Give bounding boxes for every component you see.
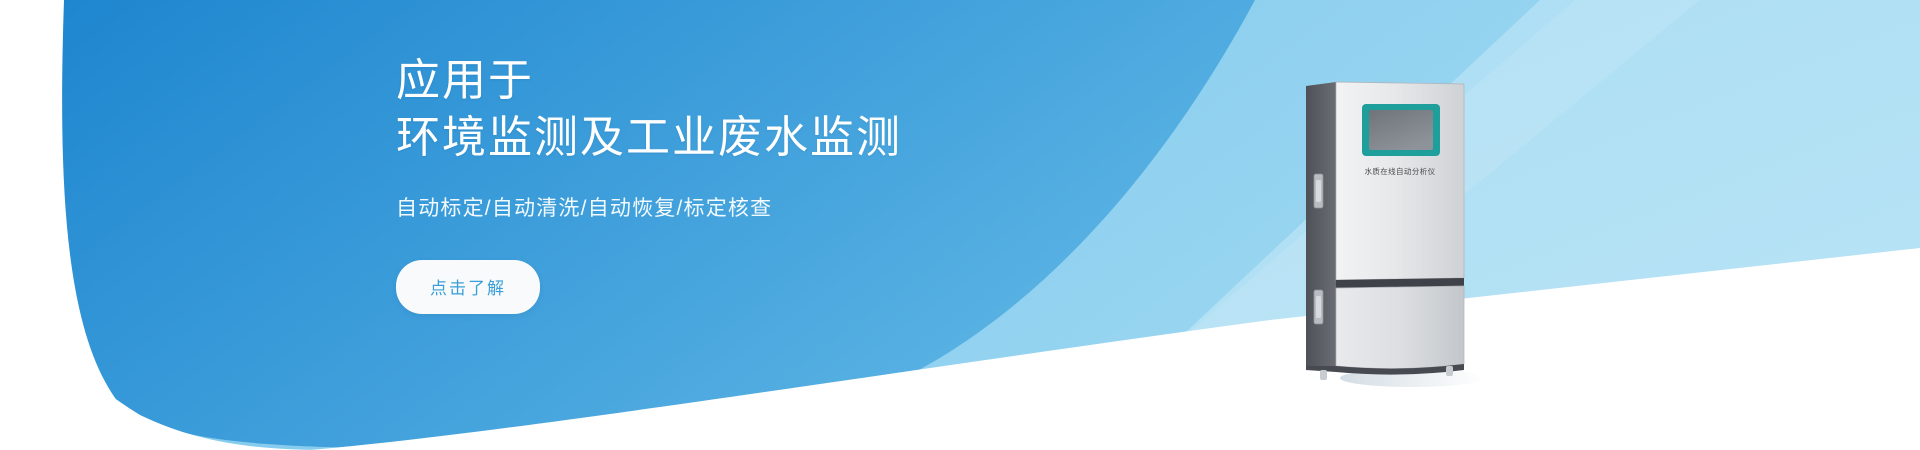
cabinet-lower-door bbox=[1336, 286, 1464, 369]
page-title: 应用于 环境监测及工业废水监测 bbox=[396, 52, 1156, 166]
headline-line-1: 应用于 bbox=[396, 56, 534, 105]
analyzer-cabinet-icon bbox=[1300, 78, 1480, 388]
display-screen bbox=[1369, 110, 1433, 150]
learn-more-button[interactable]: 点击了解 bbox=[396, 260, 540, 314]
cabinet-side-panel bbox=[1306, 82, 1336, 370]
product-image: 水质在线自动分析仪 bbox=[1300, 78, 1480, 388]
headline-line-2: 环境监测及工业废水监测 bbox=[396, 109, 1156, 166]
hero-subtitle: 自动标定/自动清洗/自动恢复/标定核查 bbox=[396, 192, 1156, 222]
upper-handle-inner bbox=[1316, 180, 1321, 202]
hero-banner: 应用于 环境监测及工业废水监测 自动标定/自动清洗/自动恢复/标定核查 点击了解 bbox=[0, 0, 1920, 450]
lower-handle-inner bbox=[1316, 296, 1321, 318]
hero-copy: 应用于 环境监测及工业废水监测 自动标定/自动清洗/自动恢复/标定核查 点击了解 bbox=[396, 52, 1156, 314]
